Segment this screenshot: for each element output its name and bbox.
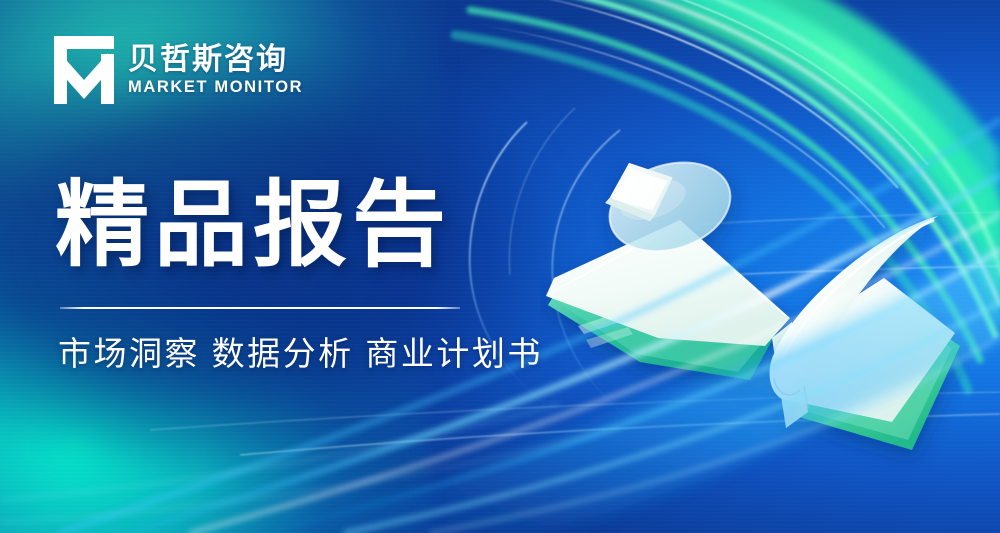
market-monitor-m-logo-icon [54,36,114,104]
brand-logo[interactable]: 贝哲斯咨询 MARKET MONITOR [54,36,303,104]
open-book-with-magnifier-illustration [540,150,970,470]
title-divider [60,307,460,309]
page-title: 精品报告 [55,176,451,275]
company-name-cn: 贝哲斯咨询 [128,45,303,75]
company-name-en: MARKET MONITOR [128,79,303,96]
book-group [546,150,960,450]
report-promo-banner: 贝哲斯咨询 MARKET MONITOR [0,0,1000,533]
brand-logo-text: 贝哲斯咨询 MARKET MONITOR [128,45,303,96]
page-subtitle: 市场洞察 数据分析 商业计划书 [58,332,543,377]
